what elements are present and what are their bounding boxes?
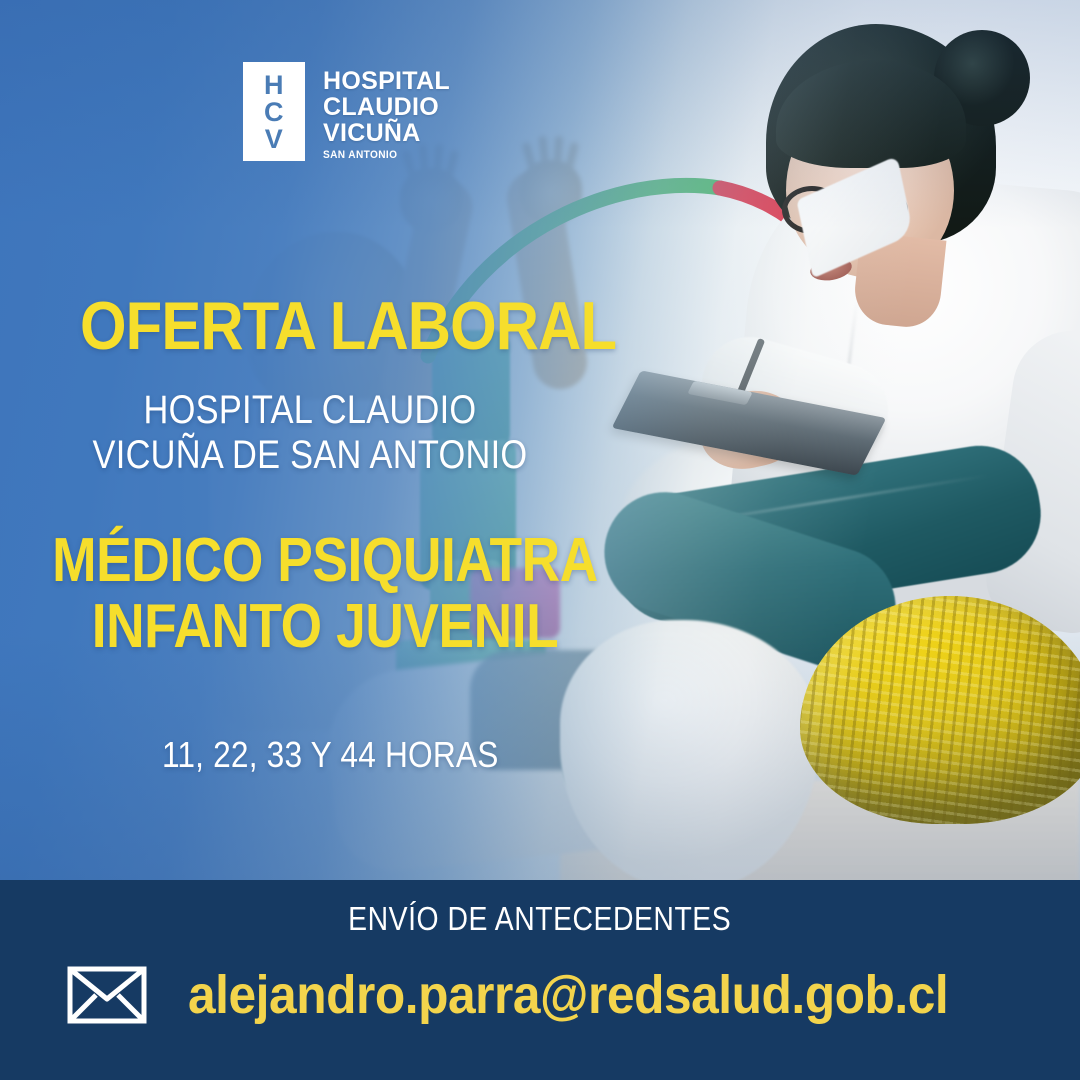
job-title: MÉDICO PSIQUIATRA INFANTO JUVENIL <box>0 528 650 659</box>
logo-letter-h: H <box>264 72 284 99</box>
contact-row[interactable]: alejandro.parra@redsalud.gob.cl <box>0 964 1080 1026</box>
logo-line-claudio: CLAUDIO <box>323 94 450 120</box>
poster-root: H C V HOSPITAL CLAUDIO VICUÑA SAN ANTONI… <box>0 0 1080 1080</box>
logo-wordmark: HOSPITAL CLAUDIO VICUÑA SAN ANTONIO <box>323 62 450 161</box>
hcv-logo-mark-icon: H C V <box>243 62 305 161</box>
hospital-logo: H C V HOSPITAL CLAUDIO VICUÑA SAN ANTONI… <box>243 62 450 161</box>
logo-line-hospital: HOSPITAL <box>323 68 450 94</box>
envelope-icon <box>66 965 148 1025</box>
contact-footer: ENVÍO DE ANTECEDENTES alejandro.parra@re… <box>0 880 1080 1080</box>
working-hours-text: 11, 22, 33 Y 44 HORAS <box>162 734 499 776</box>
logo-letter-v: V <box>265 126 284 153</box>
logo-subtitle: SAN ANTONIO <box>323 149 440 161</box>
job-title-line-1: MÉDICO PSIQUIATRA <box>46 528 605 594</box>
footer-heading: ENVÍO DE ANTECEDENTES <box>0 900 1080 938</box>
organization-name: HOSPITAL CLAUDIO VICUÑA DE SAN ANTONIO <box>0 388 620 478</box>
organization-line-2: VICUÑA DE SAN ANTONIO <box>43 433 576 478</box>
page-title: OFERTA LABORAL <box>80 292 616 360</box>
job-title-line-2: INFANTO JUVENIL <box>46 594 605 660</box>
contact-email[interactable]: alejandro.parra@redsalud.gob.cl <box>188 964 948 1026</box>
footer-heading-text: ENVÍO DE ANTECEDENTES <box>348 900 731 938</box>
working-hours: 11, 22, 33 Y 44 HORAS <box>0 734 660 776</box>
organization-line-1: HOSPITAL CLAUDIO <box>43 388 576 433</box>
logo-line-vicuna: VICUÑA <box>323 120 450 146</box>
logo-letter-c: C <box>264 99 284 126</box>
